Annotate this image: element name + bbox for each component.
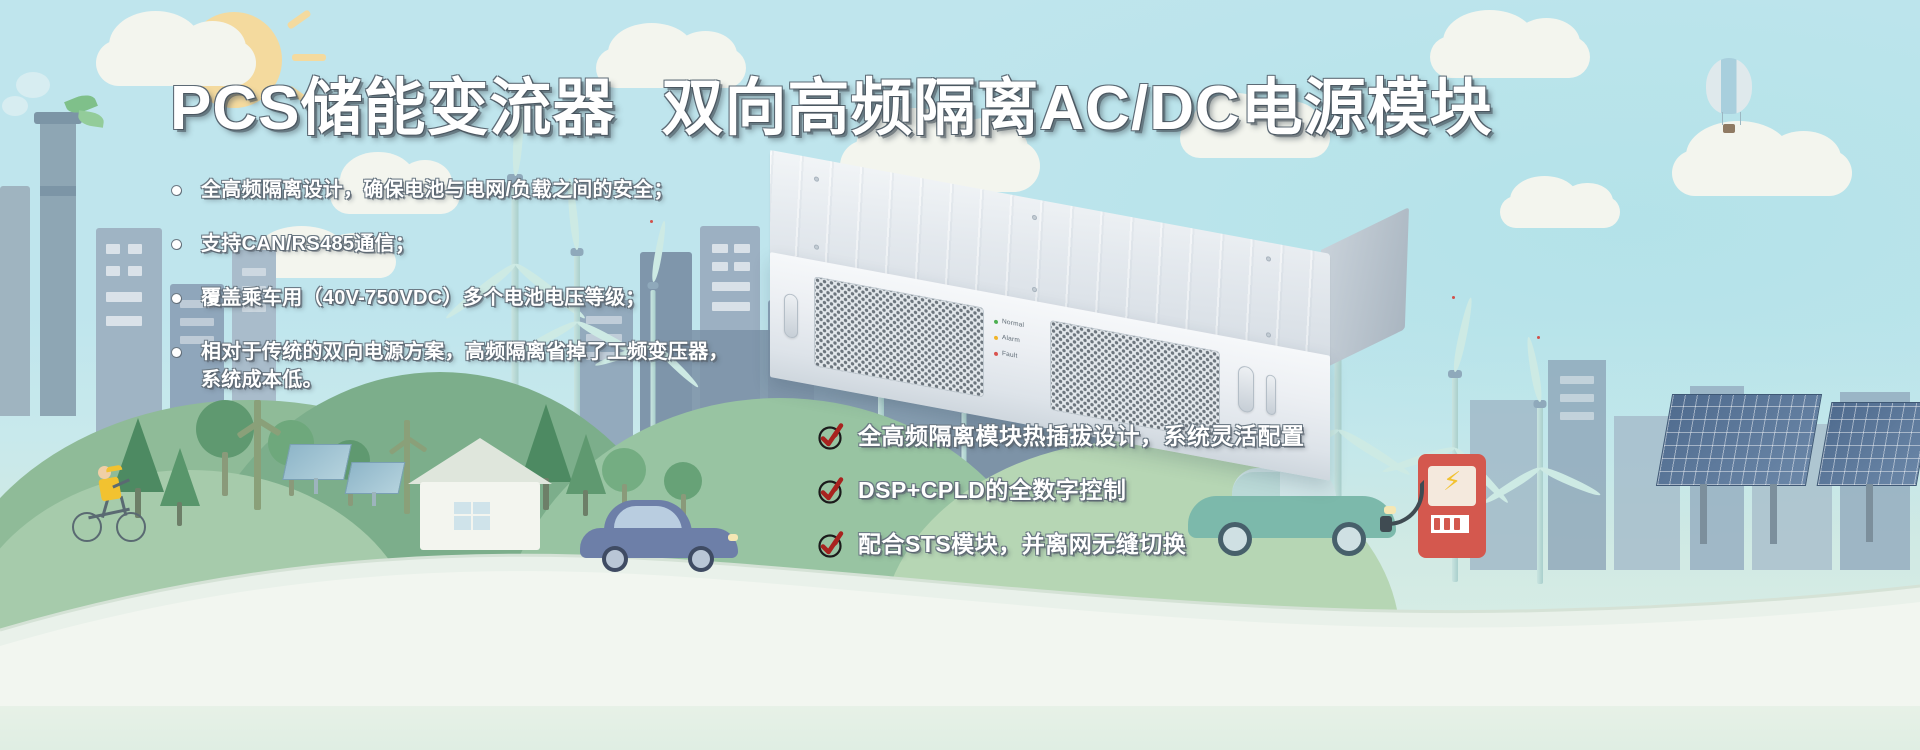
feature-item-label: 全高频隔离设计，确保电池与电网/负载之间的安全； <box>201 176 674 204</box>
check-circle-icon <box>816 529 846 559</box>
checklist-item: 配合STS模块，并离网无缝切换 <box>816 528 1436 560</box>
checklist-item-label: 配合STS模块，并离网无缝切换 <box>858 528 1186 560</box>
checklist-item-label: DSP+CPLD的全数字控制 <box>858 474 1126 506</box>
page-title: PCS储能变流器双向高频隔离AC/DC电源模块 <box>170 66 1350 152</box>
ground-strip <box>0 706 1920 750</box>
checklist-item-label: 全高频隔离模块热插拔设计，系统灵活配置 <box>858 420 1305 452</box>
feature-list: 全高频隔离设计，确保电池与电网/负载之间的安全； 支持CAN/RS485通信； … <box>172 176 872 420</box>
led-fault-label: Fault <box>1002 350 1017 360</box>
lightning-bolt-icon: ⚡ <box>1443 468 1461 494</box>
feature-item: 全高频隔离设计，确保电池与电网/负载之间的安全； <box>172 176 872 204</box>
feature-item: 支持CAN/RS485通信； <box>172 230 872 258</box>
bullet-dot-icon <box>172 240 181 249</box>
feature-item: 覆盖乘车用（40V-750VDC）多个电池电压等级； <box>172 284 872 312</box>
car-icon <box>580 500 740 570</box>
bullet-dot-icon <box>172 186 181 195</box>
check-circle-icon <box>816 421 846 451</box>
feature-item: 相对于传统的双向电源方案，高频隔离省掉了工频变压器， 系统成本低。 <box>172 338 872 394</box>
title-part-2: 双向高频隔离AC/DC电源模块 <box>661 74 1492 143</box>
bullet-dot-icon <box>172 294 181 303</box>
bullet-dot-icon <box>172 348 181 357</box>
led-normal-label: Normal <box>1002 318 1024 329</box>
banner-canvas: ⚡ <box>0 0 1920 750</box>
led-alarm-label: Alarm <box>1002 334 1020 344</box>
product-latch-right <box>1266 374 1276 416</box>
feature-item-label: 覆盖乘车用（40V-750VDC）多个电池电压等级； <box>201 284 646 312</box>
feature-item-label: 支持CAN/RS485通信； <box>201 230 415 258</box>
checklist-item: DSP+CPLD的全数字控制 <box>816 474 1436 506</box>
check-circle-icon <box>816 475 846 505</box>
product-side-panel <box>1317 207 1409 372</box>
checklist-item: 全高频隔离模块热插拔设计，系统灵活配置 <box>816 420 1436 452</box>
feature-item-label: 相对于传统的双向电源方案，高频隔离省掉了工频变压器， 系统成本低。 <box>201 338 729 394</box>
title-part-1: PCS储能变流器 <box>170 74 615 143</box>
checklist: 全高频隔离模块热插拔设计，系统灵活配置 DSP+CPLD的全数字控制 配合S <box>816 420 1436 582</box>
led-indicator-panel: Normal Alarm Fault <box>994 318 1048 384</box>
product-handle-right <box>1238 365 1254 414</box>
